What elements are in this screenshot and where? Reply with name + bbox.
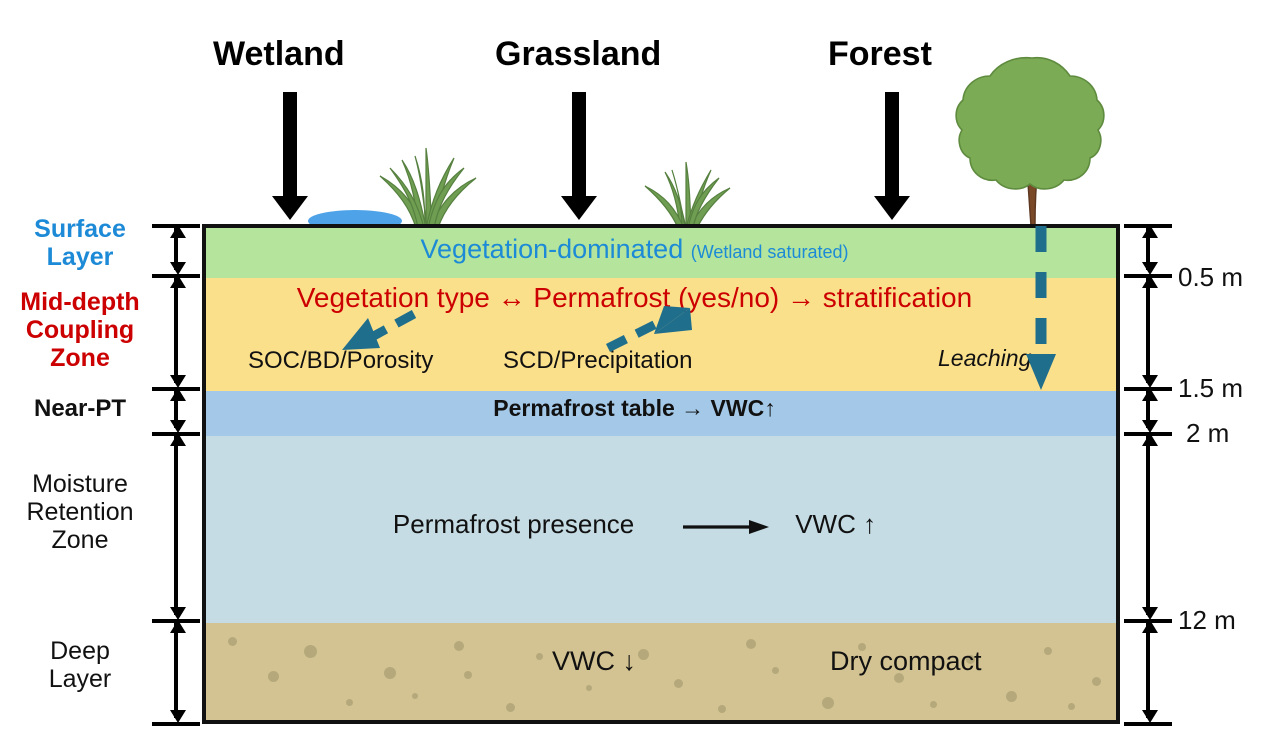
zone-label-surface-layer: Surface Layer xyxy=(10,215,150,271)
surface-layer-sub: (Wetland saturated) xyxy=(691,242,849,262)
down-arrow-grassland-icon xyxy=(572,92,586,198)
right-span-e-head-bottom xyxy=(1142,710,1158,723)
leaching-arrow-icon xyxy=(1024,224,1058,394)
left-span-deep-head-bottom xyxy=(170,710,186,723)
left-span-deep xyxy=(174,623,178,718)
depth-label-0-5m: 0.5 m xyxy=(1178,262,1243,293)
canopy-label-grassland: Grassland xyxy=(495,35,661,74)
wetland-grass-icon xyxy=(368,142,484,228)
down-arrow-wetland-icon xyxy=(283,92,297,198)
right-span-a-head-top xyxy=(1142,225,1158,238)
deep-vwc-down-text: VWC ↓ xyxy=(552,646,636,677)
zone-label-mid-depth-coupling: Mid-depth Coupling Zone xyxy=(10,288,150,372)
canopy-label-wetland: Wetland xyxy=(213,35,345,74)
zone-label-deep-layer: Deep Layer xyxy=(10,637,150,693)
left-span-moisture xyxy=(174,436,178,615)
deep-dry-compact-text: Dry compact xyxy=(830,646,982,677)
right-span-e-head-top xyxy=(1142,620,1158,633)
right-span-d-head-bottom xyxy=(1142,607,1158,620)
surface-layer-main: Vegetation-dominated xyxy=(421,234,684,264)
zone-label-near-pt: Near-PT xyxy=(10,396,150,423)
depth-label-2m: 2 m xyxy=(1186,418,1229,449)
figure-canvas: Wetland Grassland Forest xyxy=(0,0,1269,734)
right-span-c-head-bottom xyxy=(1142,420,1158,433)
annotation-leaching: Leaching xyxy=(938,345,1031,372)
depth-label-12m: 12 m xyxy=(1178,605,1236,636)
left-span-moisture-head-bottom xyxy=(170,607,186,620)
left-span-mid-head-top xyxy=(170,275,186,288)
permafrost-table-text: Permafrost table → VWC↑ xyxy=(0,395,1269,422)
canopy-label-forest: Forest xyxy=(828,35,932,74)
left-span-mid-head-bottom xyxy=(170,375,186,388)
right-span-b-head-bottom xyxy=(1142,375,1158,388)
left-span-nearpt-head-top xyxy=(170,388,186,401)
right-span-2-to-12 xyxy=(1146,436,1150,615)
right-span-12-to-bottom xyxy=(1146,623,1150,718)
left-span-deep-head-top xyxy=(170,620,186,633)
forest-tree-icon xyxy=(952,50,1112,228)
right-span-d-head-top xyxy=(1142,433,1158,446)
right-span-0-5-to-1-5 xyxy=(1146,278,1150,383)
permafrost-presence-label: Permafrost presence xyxy=(393,509,634,539)
left-span-surface-head-top xyxy=(170,225,186,238)
teal-arrow-up-right-icon xyxy=(604,304,698,354)
zone-label-moisture-retention: Moisture Retention Zone xyxy=(10,470,150,554)
surface-layer-text: Vegetation-dominated (Wetland saturated) xyxy=(0,234,1269,265)
right-arrow-icon xyxy=(683,519,769,535)
vwc-up-label: VWC ↑ xyxy=(795,509,876,539)
down-arrow-forest-icon xyxy=(885,92,899,198)
depth-label-1-5m: 1.5 m xyxy=(1178,373,1243,404)
left-span-surface-head-bottom xyxy=(170,262,186,275)
moisture-retention-text: Permafrost presence VWC ↑ xyxy=(0,509,1269,540)
grassland-grass-icon xyxy=(634,158,738,228)
right-span-a-head-bottom xyxy=(1142,262,1158,275)
right-span-c-head-top xyxy=(1142,388,1158,401)
left-span-moisture-head-top xyxy=(170,433,186,446)
teal-arrow-down-left-icon xyxy=(330,308,420,356)
right-span-b-head-top xyxy=(1142,275,1158,288)
left-span-nearpt-head-bottom xyxy=(170,420,186,433)
left-span-mid xyxy=(174,278,178,383)
